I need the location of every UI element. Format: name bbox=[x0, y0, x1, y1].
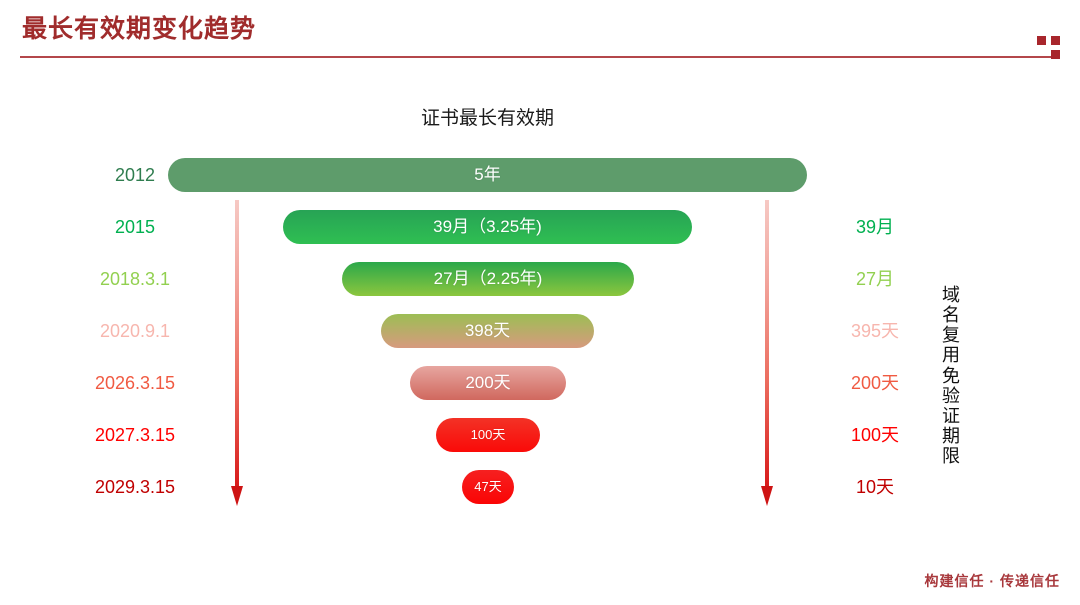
row-year-label: 2015 bbox=[60, 210, 210, 244]
bar-value-label: 39月（3.25年) bbox=[283, 210, 692, 244]
page-title: 最长有效期变化趋势 bbox=[22, 9, 256, 45]
trend-arrow-right-icon bbox=[765, 200, 769, 507]
validity-bar[interactable]: 5年 bbox=[168, 158, 807, 192]
side-caption-char: 用 bbox=[936, 345, 966, 365]
reuse-period-label: 200天 bbox=[820, 366, 930, 400]
validity-bar[interactable]: 200天 bbox=[410, 366, 566, 400]
slide-header: 最长有效期变化趋势 bbox=[0, 0, 1080, 70]
square-icon bbox=[1037, 36, 1046, 45]
chart-row: 2020.9.1398天395天 bbox=[0, 314, 1080, 348]
side-caption-char: 复 bbox=[936, 325, 966, 345]
reuse-period-label: 395天 bbox=[820, 314, 930, 348]
chart-title: 证书最长有效期 bbox=[0, 103, 975, 130]
row-year-label: 2018.3.1 bbox=[60, 262, 210, 296]
validity-bar[interactable]: 47天 bbox=[462, 470, 514, 504]
title-divider bbox=[20, 56, 1059, 58]
reuse-period-label: 10天 bbox=[820, 470, 930, 504]
trend-arrow-left-icon bbox=[235, 200, 239, 507]
side-caption-char: 名 bbox=[936, 305, 966, 325]
reuse-period-label: 27月 bbox=[820, 262, 930, 296]
footer-slogan: 构建信任 · 传递信任 bbox=[925, 571, 1060, 591]
bar-value-label: 100天 bbox=[436, 418, 540, 452]
bar-value-label: 27月（2.25年) bbox=[342, 262, 634, 296]
bar-value-label: 5年 bbox=[168, 158, 807, 192]
side-caption-char: 域 bbox=[936, 285, 966, 305]
side-caption-char: 证 bbox=[936, 406, 966, 426]
row-year-label: 2027.3.15 bbox=[60, 418, 210, 452]
validity-bar[interactable]: 398天 bbox=[381, 314, 594, 348]
bar-value-label: 398天 bbox=[381, 314, 594, 348]
square-icon bbox=[1051, 50, 1060, 59]
row-year-label: 2029.3.15 bbox=[60, 470, 210, 504]
slide-footer: 构建信任 · 传递信任 bbox=[0, 557, 1080, 605]
chart-row: 2018.3.127月（2.25年)27月 bbox=[0, 262, 1080, 296]
chart-row: 2029.3.1547天10天 bbox=[0, 470, 1080, 504]
validity-bar[interactable]: 27月（2.25年) bbox=[342, 262, 634, 296]
reuse-period-label: 100天 bbox=[820, 418, 930, 452]
bar-value-label: 47天 bbox=[462, 470, 514, 504]
side-caption-char: 验 bbox=[936, 386, 966, 406]
decorative-squares bbox=[1037, 36, 1067, 62]
row-year-label: 2020.9.1 bbox=[60, 314, 210, 348]
validity-bar[interactable]: 39月（3.25年) bbox=[283, 210, 692, 244]
chart-area: 证书最长有效期 20125年201539月（3.25年)39月2018.3.12… bbox=[0, 70, 1080, 540]
side-caption: 域名复用免验证期限 bbox=[936, 285, 966, 466]
chart-row: 2026.3.15200天200天 bbox=[0, 366, 1080, 400]
row-year-label: 2026.3.15 bbox=[60, 366, 210, 400]
chart-row: 20125年 bbox=[0, 158, 1080, 192]
validity-bar[interactable]: 100天 bbox=[436, 418, 540, 452]
chart-row: 2027.3.15100天100天 bbox=[0, 418, 1080, 452]
reuse-period-label: 39月 bbox=[820, 210, 930, 244]
side-caption-char: 期 bbox=[936, 426, 966, 446]
square-icon bbox=[1051, 36, 1060, 45]
bar-value-label: 200天 bbox=[410, 366, 566, 400]
side-caption-char: 免 bbox=[936, 366, 966, 386]
chart-row: 201539月（3.25年)39月 bbox=[0, 210, 1080, 244]
side-caption-char: 限 bbox=[936, 446, 966, 466]
